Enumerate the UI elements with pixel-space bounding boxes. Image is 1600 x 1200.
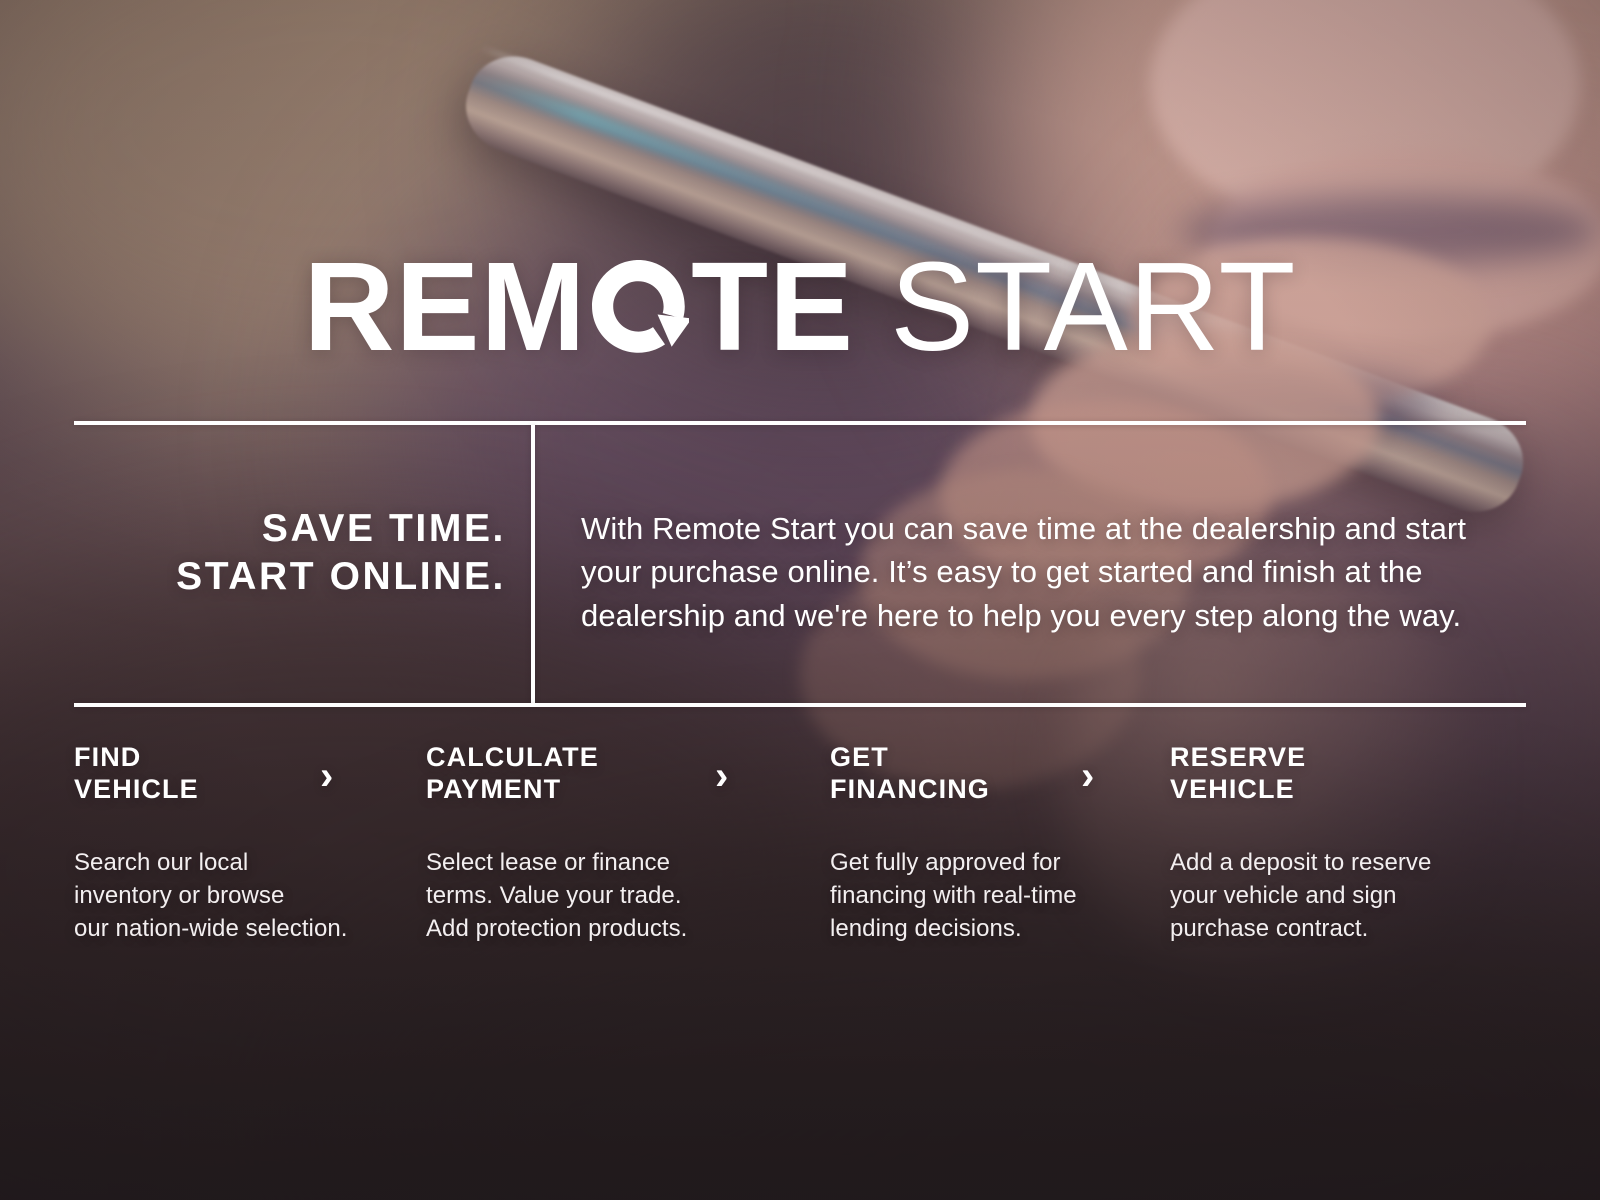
power-refresh-icon [588, 256, 689, 357]
remote-start-hero-banner: REM TE START SAVE TIME. START ONLINE. Wi… [0, 0, 1600, 1200]
step-title: CALCULATE PAYMENT [426, 742, 830, 805]
hero-paragraph: With Remote Start you can save time at t… [581, 507, 1471, 637]
step-title-line-1: CALCULATE [426, 742, 830, 774]
step-title: RESERVE VEHICLE [1170, 742, 1510, 805]
step-desc-line-3: our nation-wide selection. [74, 912, 426, 945]
chevron-right-icon: › [1081, 756, 1094, 796]
step-title-line-1: GET [830, 742, 1170, 774]
divider-vertical [531, 425, 535, 703]
step-desc-line-2: your vehicle and sign [1170, 879, 1510, 912]
step-get-financing: GET FINANCING Get fully approved for fin… [830, 742, 1170, 945]
step-title-line-2: PAYMENT [426, 774, 830, 806]
step-title-line-1: FIND [74, 742, 426, 774]
step-desc-line-1: Search our local [74, 846, 426, 879]
step-description: Get fully approved for financing with re… [830, 846, 1170, 945]
step-title-line-1: RESERVE [1170, 742, 1510, 774]
step-description: Search our local inventory or browse our… [74, 846, 426, 945]
step-desc-line-2: inventory or browse [74, 879, 426, 912]
step-title-line-2: VEHICLE [1170, 774, 1510, 806]
step-description: Add a deposit to reserve your vehicle an… [1170, 846, 1510, 945]
hero-headline-line-1: SAVE TIME. [74, 505, 506, 553]
chevron-right-icon: › [320, 756, 333, 796]
wordmark-light-word: START [854, 236, 1296, 377]
step-title-line-2: FINANCING [830, 774, 1170, 806]
process-steps: FIND VEHICLE Search our local inventory … [74, 742, 1526, 945]
wordmark-bold-prefix: REM [304, 236, 587, 377]
step-desc-line-2: terms. Value your trade. [426, 879, 830, 912]
step-desc-line-3: lending decisions. [830, 912, 1170, 945]
step-desc-line-2: financing with real-time [830, 879, 1170, 912]
step-title: GET FINANCING [830, 742, 1170, 805]
step-find-vehicle: FIND VEHICLE Search our local inventory … [74, 742, 426, 945]
step-description: Select lease or finance terms. Value you… [426, 846, 830, 945]
step-desc-line-3: purchase contract. [1170, 912, 1510, 945]
wordmark-remote-start: REM TE START [0, 244, 1600, 370]
step-desc-line-1: Add a deposit to reserve [1170, 846, 1510, 879]
hero-headline-line-2: START ONLINE. [74, 553, 506, 601]
chevron-right-icon: › [715, 756, 728, 796]
hero-headline: SAVE TIME. START ONLINE. [74, 505, 506, 600]
step-desc-line-3: Add protection products. [426, 912, 830, 945]
step-desc-line-1: Select lease or finance [426, 846, 830, 879]
divider-bottom [74, 703, 1526, 707]
step-title-line-2: VEHICLE [74, 774, 426, 806]
hero-content: REM TE START SAVE TIME. START ONLINE. Wi… [0, 0, 1600, 1200]
step-reserve-vehicle: RESERVE VEHICLE Add a deposit to reserve… [1170, 742, 1510, 945]
step-calculate-payment: CALCULATE PAYMENT Select lease or financ… [426, 742, 830, 945]
step-desc-line-1: Get fully approved for [830, 846, 1170, 879]
wordmark-bold-suffix: TE [691, 236, 854, 377]
step-title: FIND VEHICLE [74, 742, 426, 805]
divider-top [74, 421, 1526, 425]
